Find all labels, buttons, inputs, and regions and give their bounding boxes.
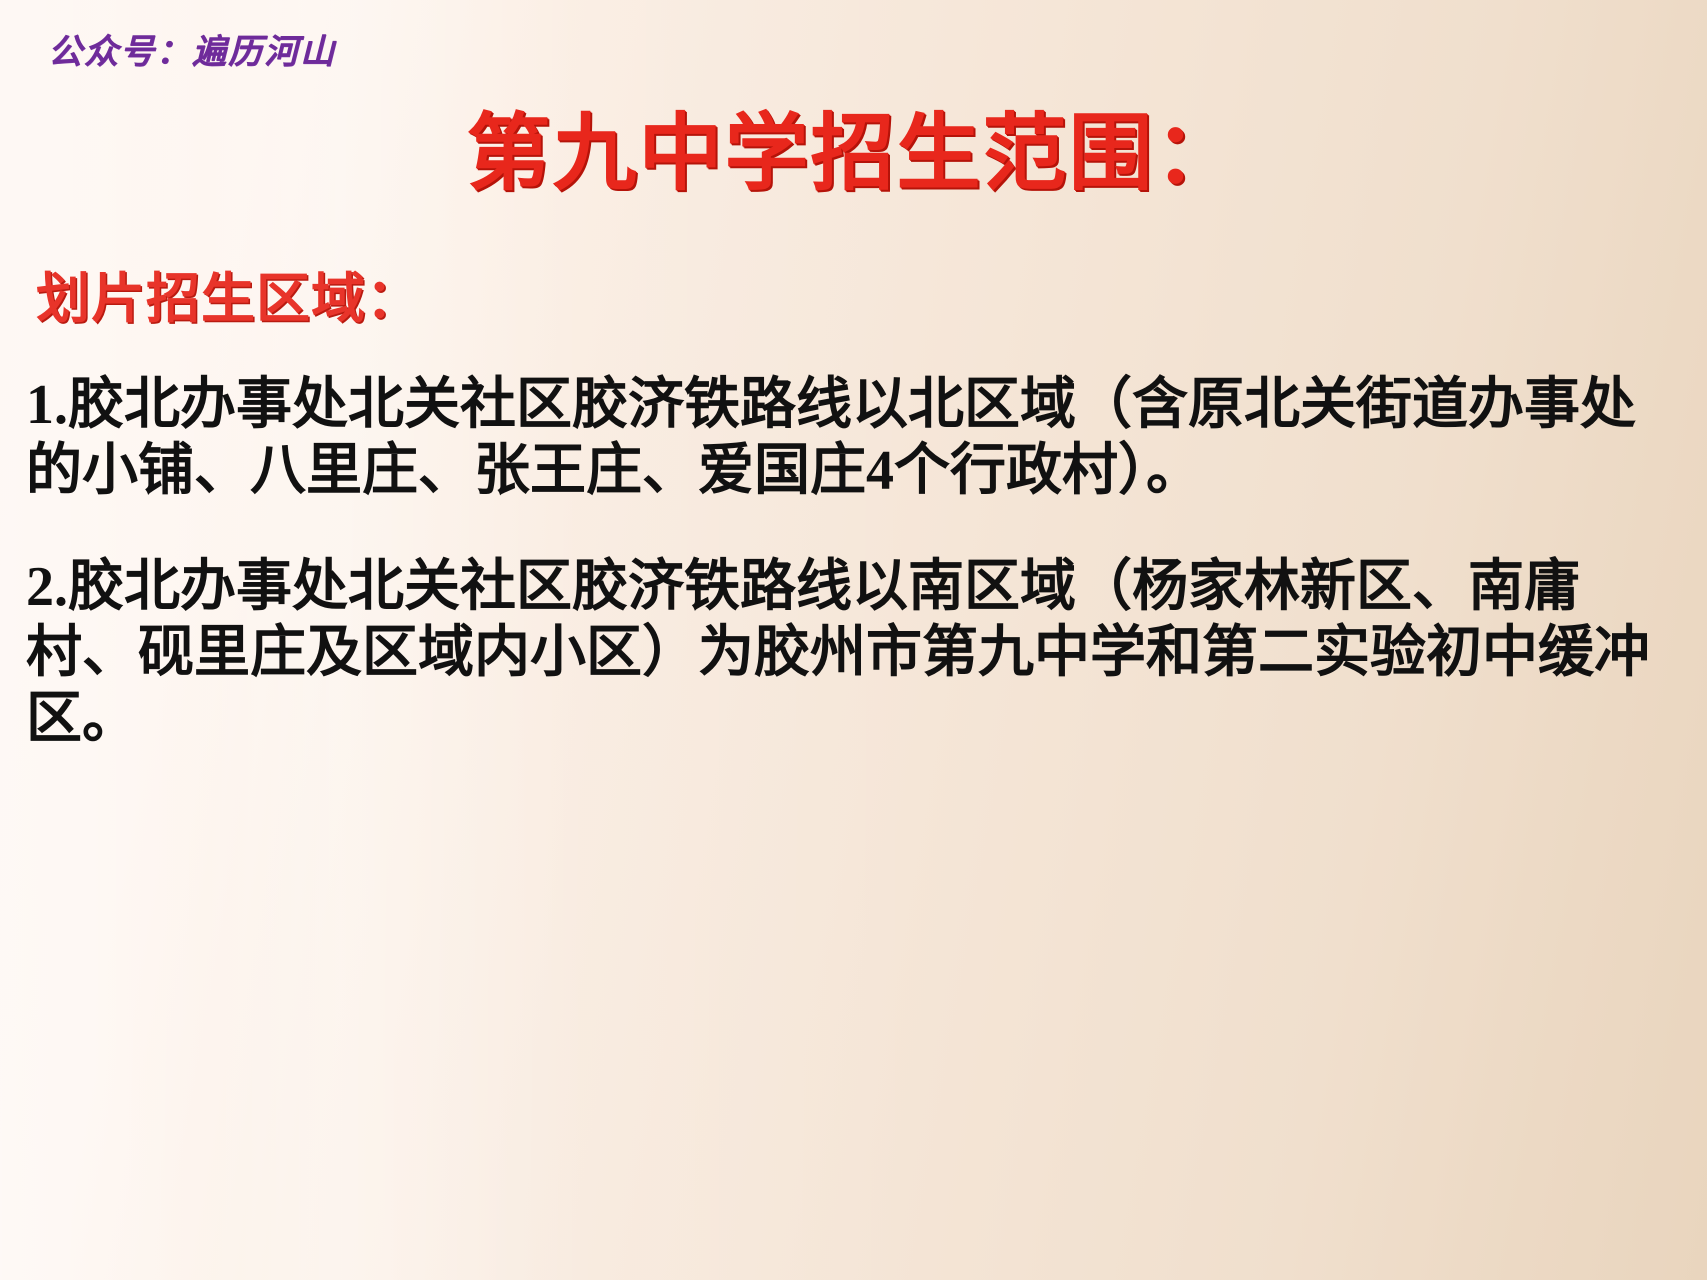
list-marker-2: 2. (26, 556, 68, 618)
watermark-text: 公众号：遍历河山 (48, 24, 336, 73)
section-subtitle: 划片招生区域： (36, 254, 421, 333)
paragraph-2: 2.胶北办事处北关社区胶济铁路线以南区域（杨家林新区、南庸村、砚里庄及区域内小区… (26, 554, 1686, 752)
list-item: 1.胶北办事处北关社区胶济铁路线以北区域（含原北关街道办事处的小铺、八里庄、张王… (26, 372, 1686, 504)
paragraph-1: 1.胶北办事处北关社区胶济铁路线以北区域（含原北关街道办事处的小铺、八里庄、张王… (26, 372, 1686, 504)
list-item: 2.胶北办事处北关社区胶济铁路线以南区域（杨家林新区、南庸村、砚里庄及区域内小区… (26, 554, 1686, 752)
page-title: 第九中学招生范围： (0, 86, 1707, 207)
slide-content: 公众号：遍历河山 第九中学招生范围： 划片招生区域： 1.胶北办事处北关社区胶济… (0, 0, 1707, 1280)
slide-canvas: 公众号：遍历河山 第九中学招生范围： 划片招生区域： 1.胶北办事处北关社区胶济… (0, 0, 1707, 1280)
paragraph-1-text: 胶北办事处北关社区胶济铁路线以北区域（含原北关街道办事处的小铺、八里庄、张王庄、… (26, 374, 1636, 502)
paragraph-2-text: 胶北办事处北关社区胶济铁路线以南区域（杨家林新区、南庸村、砚里庄及区域内小区）为… (26, 556, 1650, 750)
list-marker-1: 1. (26, 374, 68, 436)
